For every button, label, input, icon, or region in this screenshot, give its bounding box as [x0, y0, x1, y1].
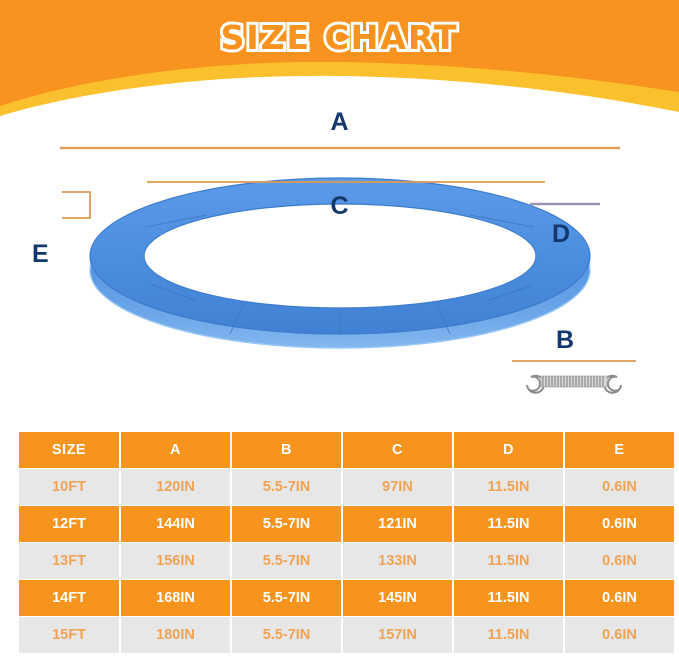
- cell-d: 11.5IN: [454, 506, 563, 542]
- label-d: D: [552, 222, 570, 247]
- cell-d: 11.5IN: [454, 617, 563, 653]
- cell-b: 5.5-7IN: [232, 617, 341, 653]
- page-title: SIZE CHART: [0, 18, 679, 57]
- cell-e: 0.6IN: [565, 617, 674, 653]
- label-c: C: [0, 194, 679, 219]
- column-header-e: E: [565, 432, 674, 468]
- table-row: 12FT 144IN 5.5-7IN 121IN 11.5IN 0.6IN: [19, 506, 674, 542]
- table-row: 15FT 180IN 5.5-7IN 157IN 11.5IN 0.6IN: [19, 617, 674, 653]
- cell-a: 120IN: [121, 469, 230, 505]
- cell-a: 144IN: [121, 506, 230, 542]
- cell-e: 0.6IN: [565, 506, 674, 542]
- cell-a: 168IN: [121, 580, 230, 616]
- label-a: A: [0, 110, 679, 135]
- cell-d: 11.5IN: [454, 580, 563, 616]
- label-b: B: [556, 328, 574, 353]
- cell-d: 11.5IN: [454, 469, 563, 505]
- column-header-c: C: [343, 432, 452, 468]
- cell-b: 5.5-7IN: [232, 543, 341, 579]
- column-header-a: A: [121, 432, 230, 468]
- cell-e: 0.6IN: [565, 543, 674, 579]
- cell-d: 11.5IN: [454, 543, 563, 579]
- column-header-b: B: [232, 432, 341, 468]
- cell-size: 14FT: [19, 580, 119, 616]
- cell-c: 145IN: [343, 580, 452, 616]
- cell-size: 15FT: [19, 617, 119, 653]
- table-row: 13FT 156IN 5.5-7IN 133IN 11.5IN 0.6IN: [19, 543, 674, 579]
- cell-b: 5.5-7IN: [232, 580, 341, 616]
- cell-size: 12FT: [19, 506, 119, 542]
- product-diagram: A C D E B: [0, 96, 679, 426]
- trampoline-spring: [527, 376, 621, 393]
- cell-a: 180IN: [121, 617, 230, 653]
- table-header-row: SIZE A B C D E: [19, 432, 674, 468]
- label-e: E: [32, 242, 49, 267]
- table-row: 10FT 120IN 5.5-7IN 97IN 11.5IN 0.6IN: [19, 469, 674, 505]
- column-header-d: D: [454, 432, 563, 468]
- size-chart-table: SIZE A B C D E 10FT 120IN 5.5-7IN 97IN 1…: [17, 431, 676, 654]
- cell-c: 121IN: [343, 506, 452, 542]
- cell-b: 5.5-7IN: [232, 506, 341, 542]
- cell-e: 0.6IN: [565, 580, 674, 616]
- cell-e: 0.6IN: [565, 469, 674, 505]
- table-row: 14FT 168IN 5.5-7IN 145IN 11.5IN 0.6IN: [19, 580, 674, 616]
- column-header-size: SIZE: [19, 432, 119, 468]
- cell-a: 156IN: [121, 543, 230, 579]
- trampoline-pad-illustration: [0, 96, 679, 426]
- cell-size: 13FT: [19, 543, 119, 579]
- cell-c: 157IN: [343, 617, 452, 653]
- cell-c: 97IN: [343, 469, 452, 505]
- cell-c: 133IN: [343, 543, 452, 579]
- cell-b: 5.5-7IN: [232, 469, 341, 505]
- cell-size: 10FT: [19, 469, 119, 505]
